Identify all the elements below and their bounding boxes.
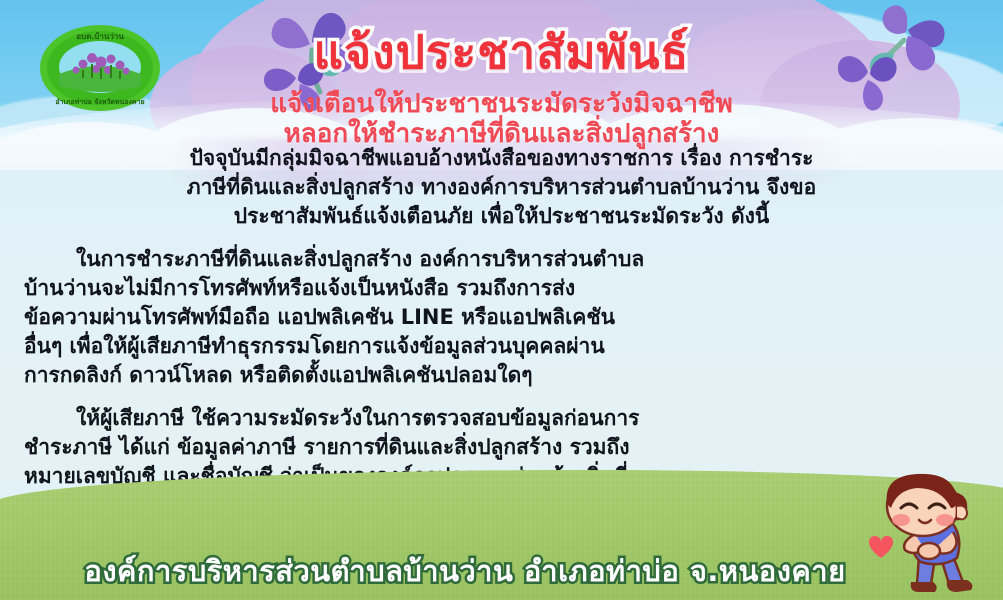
paragraph-3-line-2: ชำระภาษี ได้แก่ ข้อมูลค่าภาษี รายการที่ด… [24, 433, 979, 462]
announcement-poster: อบต.บ้านว่าน อำเภอท่าบ่อ จังหวัดหนองคาย … [0, 0, 1003, 600]
paragraph-2-line-2: บ้านว่านจะไม่มีการโทรศัพท์หรือแจ้งเป็นหน… [24, 274, 979, 303]
footer-organization-name: องค์การบริหารส่วนตำบลบ้านว่าน อำเภอท่าบ่… [0, 548, 930, 594]
paragraph-1-line-2: ภาษีที่ดินและสิ่งปลูกสร้าง ทางองค์การบริ… [24, 173, 979, 202]
paragraph-2-line-1: ในการชำระภาษีที่ดินและสิ่งปลูกสร้าง องค์… [24, 245, 979, 274]
paragraph-3-line-1: ให้ผู้เสียภาษี ใช้ความระมัดระวังในการตรว… [24, 404, 979, 433]
paragraph-2-line-5: การกดลิงก์ ดาวน์โหลด หรือติดตั้งแอปพลิเค… [24, 361, 979, 390]
bowing-person-illustration [857, 472, 997, 598]
paragraph-1-line-1: ปัจจุบันมีกลุ่มมิจฉาชีพแอบอ้างหนังสือของ… [24, 144, 979, 173]
paragraph-2-line-4: อื่นๆ เพื่อให้ผู้เสียภาษีทำธุรกรรมโดยการ… [24, 332, 979, 361]
paragraph-1-line-3: ประชาสัมพันธ์แจ้งเตือนภัย เพื่อให้ประชาช… [24, 202, 979, 231]
heart-icon [869, 536, 893, 558]
paragraph-2-line-3: ข้อความผ่านโทรศัพท์มือถือ แอปพลิเคชัน LI… [24, 303, 979, 332]
paragraph-1: ปัจจุบันมีกลุ่มมิจฉาชีพแอบอ้างหนังสือของ… [24, 144, 979, 231]
page-title: แจ้งประชาสัมพันธ์ [0, 16, 1003, 89]
paragraph-2: ในการชำระภาษีที่ดินและสิ่งปลูกสร้าง องค์… [24, 245, 979, 390]
